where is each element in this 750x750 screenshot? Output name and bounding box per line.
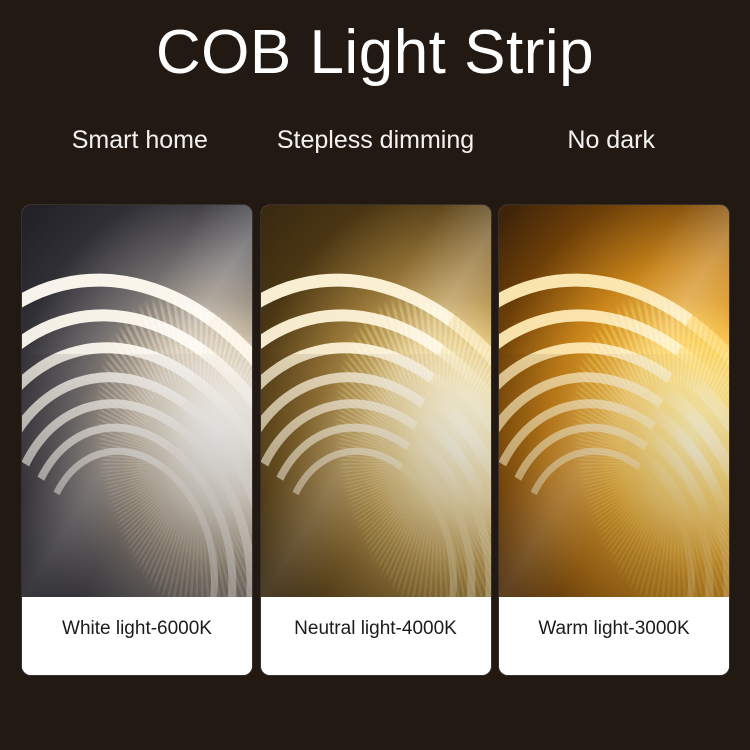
variant-card-warm-3000k[interactable]: Warm light-3000K xyxy=(499,205,729,675)
feature-item-stepless-dimming: Stepless dimming xyxy=(258,123,494,157)
product-variant-gallery: White light-6000K Neutral light-4000K xyxy=(22,205,729,675)
feature-item-no-dark: No dark xyxy=(493,123,729,157)
surface-shadow xyxy=(22,354,252,597)
product-photo-white-6000k xyxy=(22,205,252,597)
variant-caption-label: Neutral light-4000K xyxy=(294,616,457,642)
variant-caption-label: Warm light-3000K xyxy=(538,616,689,642)
variant-card-neutral-4000k[interactable]: Neutral light-4000K xyxy=(261,205,491,675)
variant-caption-bar: White light-6000K xyxy=(22,597,252,675)
product-photo-neutral-4000k xyxy=(261,205,491,597)
variant-caption-label: White light-6000K xyxy=(62,616,212,642)
product-photo-warm-3000k xyxy=(499,205,729,597)
variant-card-white-6000k[interactable]: White light-6000K xyxy=(22,205,252,675)
feature-list: Smart home Stepless dimming No dark xyxy=(22,120,729,160)
page-title: COB Light Strip xyxy=(0,16,750,90)
surface-shadow xyxy=(261,354,491,597)
header-banner: COB Light Strip Smart home Stepless dimm… xyxy=(0,0,750,190)
variant-caption-bar: Neutral light-4000K xyxy=(261,597,491,675)
feature-item-smart-home: Smart home xyxy=(22,123,258,157)
variant-caption-bar: Warm light-3000K xyxy=(499,597,729,675)
surface-shadow xyxy=(499,354,729,597)
